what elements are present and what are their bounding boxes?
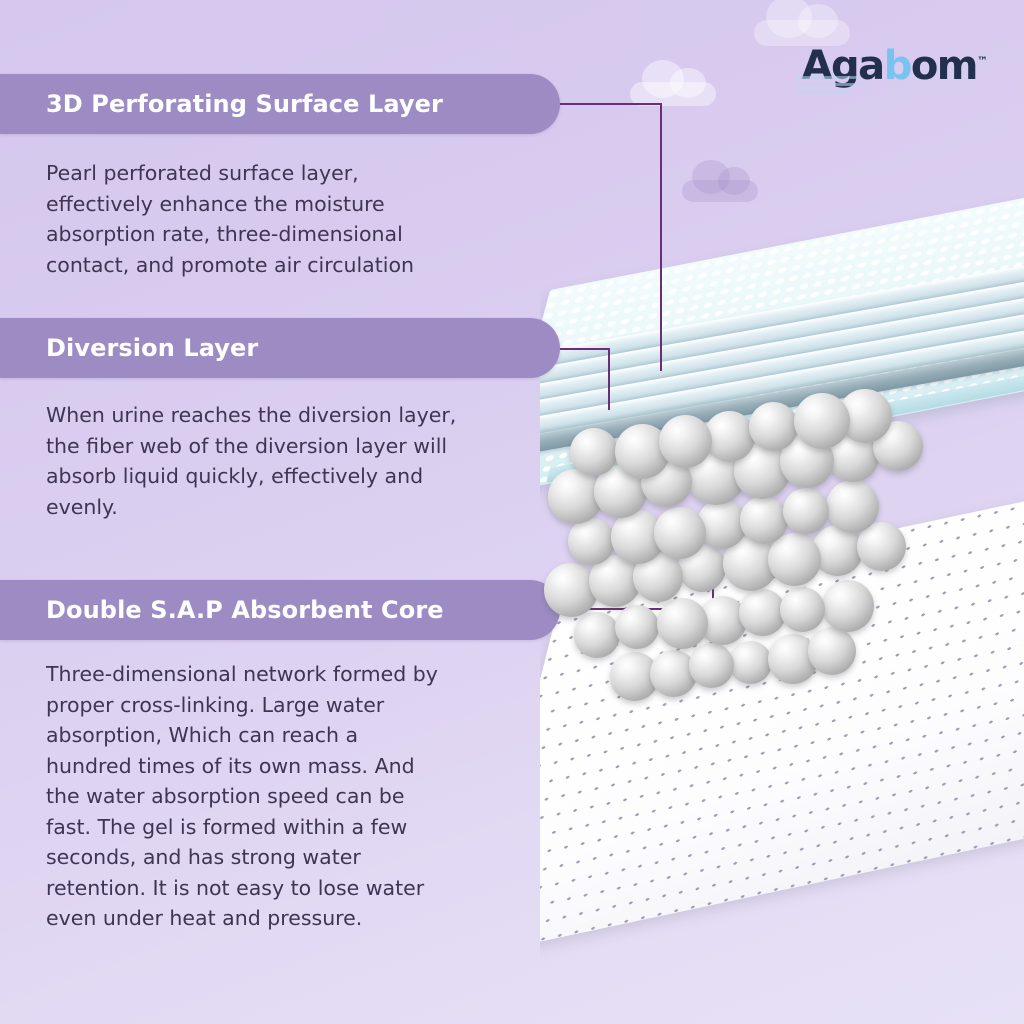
connector-line-surface-vertical <box>660 103 662 371</box>
sap-bead <box>704 411 755 462</box>
brand-name-highlight: b <box>884 43 911 89</box>
sap-bead <box>783 488 829 534</box>
sap-bead <box>740 496 788 544</box>
section-body-absorbent-core: Three-dimensional network formed by prop… <box>46 659 566 934</box>
sap-bead <box>574 612 620 658</box>
section-heading-label: Double S.A.P Absorbent Core <box>46 596 444 624</box>
sap-bead <box>739 589 786 636</box>
section-heading-surface-layer[interactable]: 3D Perforating Surface Layer <box>0 74 560 134</box>
sap-bead <box>794 393 850 449</box>
section-body-diversion-layer: When urine reaches the diversion layer, … <box>46 400 566 522</box>
sap-bead <box>570 428 618 476</box>
sap-bead <box>654 507 706 559</box>
section-heading-label: Diversion Layer <box>46 334 258 362</box>
brand-name-part2: om <box>911 43 977 89</box>
sap-bead <box>808 627 856 675</box>
section-body-surface-layer: Pearl perforated surface layer, effectiv… <box>46 158 566 280</box>
sap-bead <box>749 402 798 451</box>
section-heading-diversion-layer[interactable]: Diversion Layer <box>0 318 560 378</box>
section-heading-label: 3D Perforating Surface Layer <box>46 90 443 118</box>
info-panel: 3D Perforating Surface Layer Pearl perfo… <box>0 0 600 1024</box>
logo-cloud-stripes-icon <box>796 72 880 102</box>
sap-bead <box>689 643 734 688</box>
sap-bead <box>826 480 879 533</box>
trademark-symbol: ™ <box>977 55 988 68</box>
sap-bead <box>657 598 708 649</box>
sap-bead <box>822 580 874 632</box>
brand-logo: Agabom™ <box>802 46 988 86</box>
sap-bead <box>568 518 615 565</box>
sap-bead <box>615 605 659 649</box>
product-layer-illustration <box>540 0 1024 1024</box>
section-heading-absorbent-core[interactable]: Double S.A.P Absorbent Core <box>0 580 560 640</box>
sap-bead <box>729 641 772 684</box>
connector-line-diversion-vertical <box>608 348 610 410</box>
